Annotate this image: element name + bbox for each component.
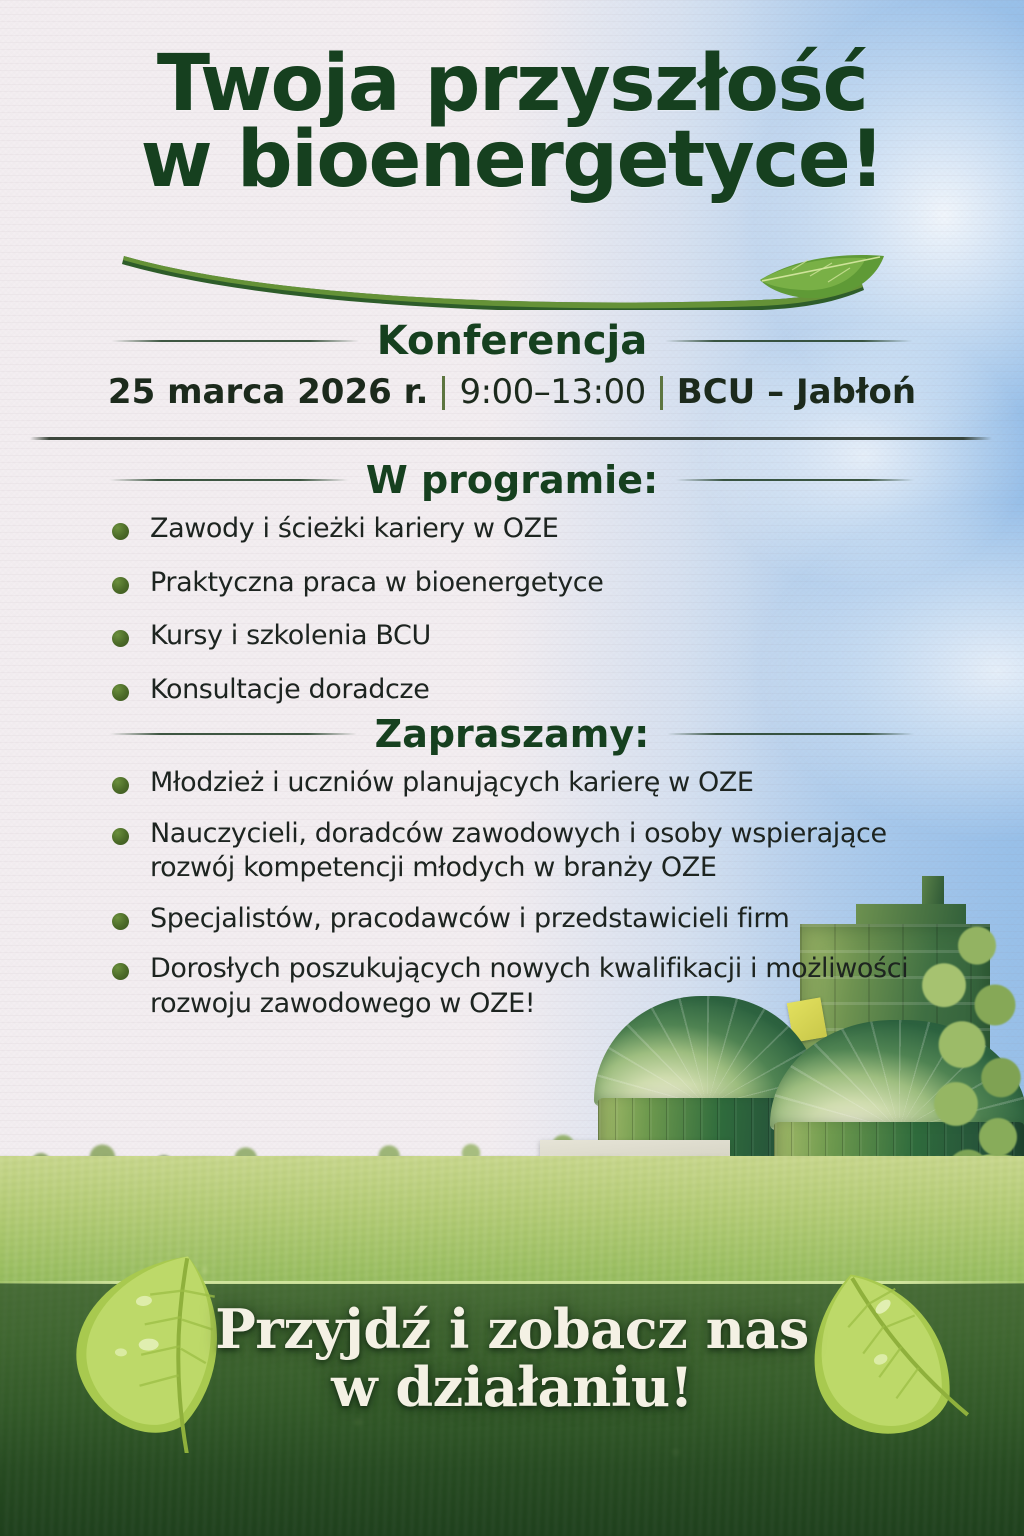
list-item-label: Kursy i szkolenia BCU bbox=[150, 620, 431, 651]
leaf-flourish-icon bbox=[120, 240, 910, 310]
list-item: Zawody i ścieżki kariery w OZE bbox=[112, 512, 954, 547]
conference-date: 25 marca 2026 r. bbox=[108, 374, 429, 411]
list-item-label: Zawody i ścieżki kariery w OZE bbox=[150, 513, 558, 544]
call-to-action-text: Przyjdź i zobacz nas w działaniu! bbox=[0, 1300, 1024, 1417]
conference-details: 25 marca 2026 r. 9:00–13:00 BCU – Jabłoń bbox=[0, 374, 1024, 411]
audience-heading-label: Zapraszamy: bbox=[375, 712, 650, 756]
program-heading-label: W programie: bbox=[366, 458, 658, 502]
list-item-label: Specjalistów, pracodawców i przedstawici… bbox=[150, 903, 789, 934]
audience-heading: Zapraszamy: bbox=[0, 712, 1024, 756]
title-line-2: w bioenergetyce! bbox=[0, 122, 1024, 198]
program-heading: W programie: bbox=[0, 458, 1024, 502]
banner-line-2: w działaniu! bbox=[0, 1358, 1024, 1416]
conference-heading: Konferencja bbox=[0, 318, 1024, 364]
poster-root: Twoja przyszłość w bioenergetyce! Konfer… bbox=[0, 0, 1024, 1536]
rule-left bbox=[112, 340, 359, 342]
rule-right bbox=[665, 340, 912, 342]
separator-bar bbox=[442, 376, 445, 410]
conference-venue: BCU – Jabłoń bbox=[677, 374, 916, 411]
conference-time: 9:00–13:00 bbox=[459, 374, 645, 411]
rule-right bbox=[667, 733, 914, 735]
title-line-1: Twoja przyszłość bbox=[0, 46, 1024, 122]
list-item-label: Nauczycieli, doradców zawodowych i osoby… bbox=[150, 818, 887, 884]
page-title: Twoja przyszłość w bioenergetyce! bbox=[0, 46, 1024, 199]
list-item: Kursy i szkolenia BCU bbox=[112, 619, 954, 654]
banner-line-1: Przyjdź i zobacz nas bbox=[215, 1297, 809, 1361]
list-item: Praktyczna praca w bioenergetyce bbox=[112, 566, 954, 601]
conference-heading-label: Konferencja bbox=[377, 318, 648, 364]
list-item-label: Dorosłych poszukujących nowych kwalifika… bbox=[150, 953, 908, 1019]
list-item-label: Młodzież i uczniów planujących karierę w… bbox=[150, 767, 754, 798]
divider-rule bbox=[30, 437, 992, 440]
program-list: Zawody i ścieżki kariery w OZE Praktyczn… bbox=[112, 512, 954, 726]
list-item: Konsultacje doradcze bbox=[112, 673, 954, 708]
audience-list: Młodzież i uczniów planujących karierę w… bbox=[112, 766, 954, 1037]
rule-left bbox=[110, 479, 348, 481]
list-item: Specjalistów, pracodawców i przedstawici… bbox=[112, 902, 954, 937]
list-item: Nauczycieli, doradców zawodowych i osoby… bbox=[112, 817, 954, 886]
separator-bar bbox=[660, 376, 663, 410]
list-item-label: Praktyczna praca w bioenergetyce bbox=[150, 567, 603, 598]
list-item: Dorosłych poszukujących nowych kwalifika… bbox=[112, 952, 954, 1021]
rule-right bbox=[676, 479, 914, 481]
list-item: Młodzież i uczniów planujących karierę w… bbox=[112, 766, 954, 801]
list-item-label: Konsultacje doradcze bbox=[150, 674, 429, 705]
rule-left bbox=[110, 733, 357, 735]
